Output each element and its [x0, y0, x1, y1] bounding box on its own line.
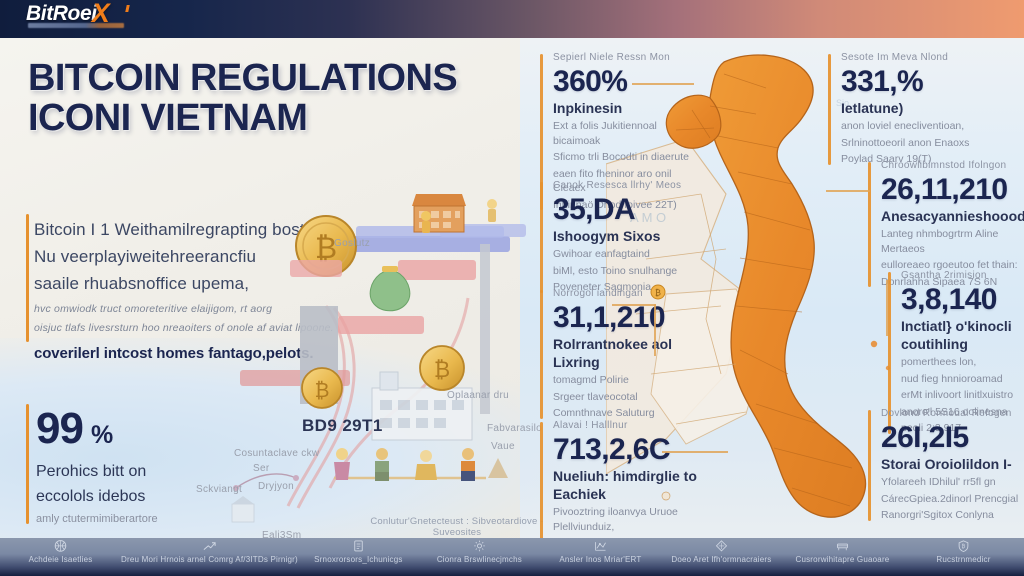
leader-line-right-2: [886, 280, 888, 336]
shield-icon: ₿: [955, 539, 972, 554]
page-title: BITCOIN REGULATIONS ICONI VIETNAM: [28, 58, 528, 138]
stat-desc-1: CárecGpiea.2dinorl Prencgial: [881, 492, 1020, 507]
footer-item-2[interactable]: Srnoxrorsors_Ichunicgs: [298, 538, 419, 568]
site-footer: Achdeie Isaetlies Dreu Mori Hrnois arnel…: [0, 538, 1024, 576]
stat-desc-0: Ext a folis Jukitiennoal bicaimoak: [553, 119, 690, 148]
stat-number: 331,%: [841, 65, 1000, 98]
footer-label: Cionra Brswlinecjmchs: [437, 555, 522, 564]
brand-tagline: [28, 23, 124, 28]
stat-accent-bar: [868, 410, 871, 521]
stat-right-3: Dovlond Rormoual Refogen 26I,2I5 Storai …: [868, 408, 1020, 523]
leader-line-mid-2: [654, 304, 656, 356]
stat-desc-0: anon loviel enecliventioan,: [841, 119, 1000, 134]
stat-label: Inpkinesin: [553, 99, 690, 117]
leader-line-mid-2b: [612, 304, 656, 306]
stat-label: Ishoogym Sixos: [553, 227, 690, 245]
stat-desc-0: tomagmd Polirie: [553, 373, 696, 388]
document-icon: [350, 539, 367, 554]
stat-number: 26I,2I5: [881, 421, 1020, 454]
stat-mid-1: Canok Resesca llrhy' Meos 35,DA Ishoogym…: [540, 180, 690, 295]
footer-label: Srnoxrorsors_Ichunicgs: [314, 555, 402, 564]
footer-label: Ansler Inos Mriar'ERT: [559, 555, 641, 564]
stat-kicker: Chroowlibimnstod Ifolngon: [881, 160, 1018, 171]
stat-kicker: Dovlond Rormoual Refogen: [881, 408, 1020, 419]
illustration-label-value: Vaue: [491, 441, 515, 452]
stat-number: 26,11,210: [881, 173, 1018, 206]
poster-canvas: ₿ A M O Sio BITCOIN REGULATIONS ICONI VI…: [0, 38, 1024, 538]
footer-item-7[interactable]: ₿ Rucstrnmedicr: [903, 538, 1024, 568]
bitcoin-coin-small-icon: ₿: [420, 346, 464, 390]
title-line-2: ICONI VIETNAM: [28, 98, 528, 138]
stat-mid-2: Norrogol iandingan 31,1,210 Rolrrantnoke…: [540, 288, 696, 421]
footer-item-4[interactable]: Ansler Inos Mriar'ERT: [540, 538, 661, 568]
stat-accent-bar: [540, 422, 543, 538]
footer-item-6[interactable]: Cusrorwihitapre Guaoare: [782, 538, 903, 568]
village-icon: [232, 496, 254, 522]
stat-kicker: Sepierl Niele Ressn Mon: [553, 52, 690, 63]
footer-label: Rucstrnmedicr: [936, 555, 990, 564]
footer-label: Dreu Mori Hrnois arnel Comrg Af/3ITDs Pi…: [121, 555, 298, 564]
stat-number: 360%: [553, 65, 690, 98]
people-icon-group: [334, 448, 508, 481]
footer-item-list: Achdeie Isaetlies Dreu Mori Hrnois arnel…: [0, 538, 1024, 568]
stat-desc-0: pomerthees lon,: [901, 355, 1024, 370]
stat-label: Rolrrantnokee aol Lixring: [553, 335, 696, 371]
stat-accent-bar: [540, 290, 543, 419]
leader-line-right-1: [826, 190, 870, 192]
stat-kicker: Canok Resesca llrhy' Meos: [553, 180, 690, 191]
footer-label: Doeo Aret Ifh'ormnacraiers: [671, 555, 771, 564]
stat-number: 713,2,6C: [553, 433, 706, 466]
illustration-label-top: Goslutz: [334, 238, 370, 249]
stat-desc-1: nud fieg hnnioroamad: [901, 372, 1024, 387]
stat-primary-percent: %: [91, 421, 113, 449]
stat-label: Nueliuh: himdirglie to Eachiek: [553, 467, 706, 503]
bench-icon: [834, 539, 851, 554]
illustration-label-side: Fabvarasilo: [487, 423, 542, 434]
stat-desc-0: Yfolareeh IDhilul' rr5fl gn: [881, 475, 1020, 490]
leader-line-mid-3: [662, 451, 728, 453]
illustration-label-region: Dryjyon: [258, 481, 294, 492]
illustration-caption: Conlutur'Gnetecteust : Sibveotardiove - …: [352, 516, 562, 538]
site-header: BitRoei X: [0, 0, 1024, 38]
stat-desc-1: Srlninottoeoril anon Enaoxs: [841, 136, 1000, 151]
stat-number: 3,8,140: [901, 283, 1024, 316]
illustration-label-left-note: Cosuntaclave ckw: [234, 448, 319, 459]
svg-text:₿: ₿: [434, 358, 450, 383]
gear-icon: [471, 539, 488, 554]
stat-desc-0: Pivooztring iloanvya Uruoe Plellviunduiz…: [553, 505, 706, 534]
stat-desc-1: Srgeer tlaveocotal: [553, 390, 696, 405]
stat-label: Ietlatune): [841, 99, 1000, 117]
stat-desc-2: erMt inlivoort linitlxuistro: [901, 388, 1024, 403]
illustration-label-cluster: Oplaanar dru: [447, 390, 509, 401]
stat-desc-0: Lanteg nhmbogrtrm Aline Mertaeos: [881, 227, 1018, 256]
building-icon: [412, 194, 466, 232]
stat-kicker: Alavai ! Halllnur: [553, 420, 706, 431]
arrow-trend-icon: [201, 539, 218, 554]
stat-accent-bar: [868, 162, 871, 287]
stat-kicker: Sesote Im Meva Nlond: [841, 52, 1000, 63]
stat-desc-1: biMl, esto Toino snulhange: [553, 264, 690, 279]
illustration-label-node: Sckviangt: [196, 484, 242, 495]
brand-x-mark: X: [92, 2, 110, 24]
stat-desc-2: Ranorgri'Sgitox Conlyna: [881, 508, 1020, 523]
illustration-label-city: Eali3Sm: [262, 530, 301, 538]
brand-logo[interactable]: BitRoei X: [26, 2, 110, 36]
chart-node-icon: [592, 539, 609, 554]
stat-kicker: Gsantha 2rimision: [901, 270, 1024, 281]
stat-label: Storai Oroiolildon I-: [881, 455, 1020, 473]
stat-primary-number: 99: [36, 404, 83, 453]
stat99-accent-bar: [26, 404, 29, 524]
bitcoin-coin-left-icon: ₿: [302, 368, 342, 408]
footer-label: Cusrorwihitapre Guaoare: [795, 555, 889, 564]
stat-desc-1: Sficmo trli Bocodti in diaerute: [553, 150, 690, 165]
illustration-label-node-2: Ser: [253, 463, 269, 474]
stat-accent-bar: [828, 54, 831, 165]
leader-line-mid-0: [632, 83, 694, 85]
stat-desc-2: Comnthnave Saluturg: [553, 406, 696, 421]
stat-number: 35,DA: [553, 193, 690, 226]
svg-text:₿: ₿: [315, 378, 330, 402]
stat-label: Anesacyannieshoood: [881, 207, 1018, 225]
stat-desc-0: Gwihoar eanfagtaind: [553, 247, 690, 262]
footer-item-1[interactable]: Dreu Mori Hrnois arnel Comrg Af/3ITDs Pi…: [121, 538, 298, 568]
footer-item-0[interactable]: Achdeie Isaetlies: [0, 538, 121, 568]
stat-mid-3: Alavai ! Halllnur 713,2,6C Nueliuh: himd…: [540, 420, 706, 538]
stat-kicker: Norrogol iandingan: [553, 288, 696, 299]
globe-grid-icon: [52, 539, 69, 554]
stat-label: Inctiatl} o'kinocli coutihling: [901, 317, 1024, 353]
infographic-poster: BitRoei X: [0, 0, 1024, 576]
title-line-1: BITCOIN REGULATIONS: [28, 58, 528, 98]
lede-accent-bar: [26, 214, 29, 342]
illustration-bank-number: BD9 29T1: [302, 416, 383, 436]
footer-item-5[interactable]: Doeo Aret Ifh'ormnacraiers: [661, 538, 782, 568]
svg-text:₿: ₿: [962, 543, 966, 550]
footer-label: Achdeie Isaetlies: [29, 555, 93, 564]
stat-accent-bar: [540, 182, 543, 293]
diamond-icon: [713, 539, 730, 554]
stat-right-0: Sesote Im Meva Nlond 331,% Ietlatune) an…: [828, 52, 1000, 167]
footer-item-3[interactable]: Cionra Brswlinecjmchs: [419, 538, 540, 568]
stat-number: 31,1,210: [553, 301, 696, 334]
brand-tick-icon: [125, 5, 129, 12]
